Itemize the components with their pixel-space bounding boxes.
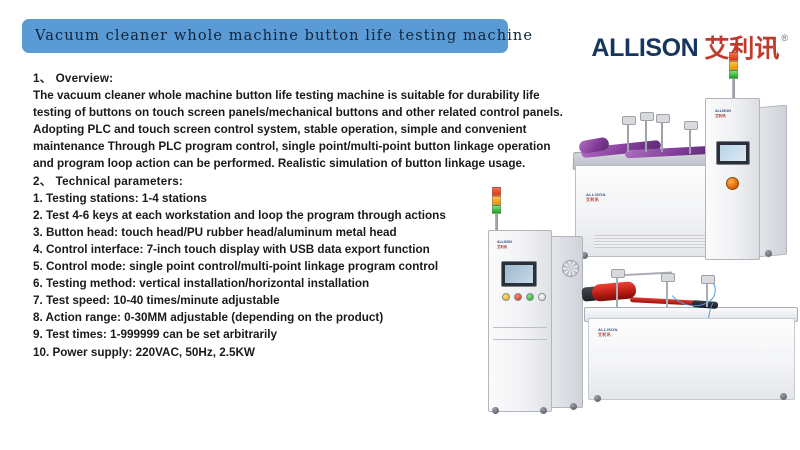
start-button[interactable] bbox=[526, 293, 534, 301]
control-button-row[interactable] bbox=[502, 293, 546, 301]
caster-wheel bbox=[570, 403, 577, 410]
parameters-heading-label: Technical parameters: bbox=[56, 175, 183, 188]
bench-brand-mark: ALLISON 艾利讯 bbox=[586, 192, 606, 203]
button-test-head bbox=[622, 116, 636, 125]
bench-brand-cn: 艾利讯 bbox=[598, 332, 618, 338]
button-test-head bbox=[640, 112, 654, 121]
panel-divider bbox=[493, 339, 547, 340]
button-test-head bbox=[656, 114, 670, 123]
touch-screen-display[interactable] bbox=[716, 141, 750, 165]
bench-brand-mark: ALLISON 艾利讯 bbox=[598, 327, 618, 338]
actuator-rod bbox=[616, 273, 618, 307]
ventilation-grille bbox=[594, 235, 714, 248]
fan-grille-icon bbox=[562, 260, 579, 277]
tower-light-red bbox=[729, 52, 738, 61]
actuator-rod bbox=[645, 118, 647, 152]
caster-wheel bbox=[765, 250, 772, 257]
tower-light-amber bbox=[492, 196, 501, 205]
page-title: Vacuum cleaner whole machine button life… bbox=[22, 28, 533, 44]
control-cabinet: ALLISON 艾利讯 bbox=[705, 98, 760, 260]
touch-screen-display[interactable] bbox=[501, 261, 537, 287]
cabinet-side-panel bbox=[757, 105, 787, 258]
cabinet-brand-cn: 艾利讯 bbox=[497, 245, 512, 250]
caster-wheel bbox=[492, 407, 499, 414]
button-test-head bbox=[701, 275, 715, 284]
control-cabinet: ALLISON 艾利讯 bbox=[488, 230, 552, 412]
actuator-rod bbox=[661, 120, 663, 152]
caster-wheel bbox=[540, 407, 547, 414]
caster-wheel bbox=[780, 393, 787, 400]
button-test-head bbox=[611, 269, 625, 278]
test-bench-cabinet: ALLISON 艾利讯 bbox=[588, 318, 795, 400]
tower-light-amber bbox=[729, 61, 738, 70]
actuator-rod bbox=[627, 122, 629, 152]
tower-light-green bbox=[492, 205, 501, 214]
caster-wheel bbox=[594, 395, 601, 402]
overview-heading-number: 1、 bbox=[33, 72, 52, 85]
emergency-stop-button[interactable] bbox=[514, 293, 522, 301]
overview-heading-label: Overview: bbox=[56, 72, 114, 85]
cabinet-brand-mark: ALLISON 艾利讯 bbox=[497, 240, 512, 250]
bench-brand-cn: 艾利讯 bbox=[586, 197, 606, 203]
cabinet-brand-mark: ALLISON 艾利讯 bbox=[715, 109, 731, 119]
tower-light-icon bbox=[729, 52, 738, 103]
parameters-heading-number: 2、 bbox=[33, 175, 52, 188]
product-photos: ALLISON 艾利讯 ALLISON 艾利讯 bbox=[470, 55, 800, 450]
machine-photo-top: ALLISON 艾利讯 ALLISON 艾利讯 bbox=[565, 60, 795, 265]
tower-light-red bbox=[492, 187, 501, 196]
cabinet-brand-cn: 艾利讯 bbox=[715, 114, 731, 119]
panel-divider bbox=[493, 327, 547, 328]
emergency-stop-button[interactable] bbox=[726, 177, 739, 190]
reset-button[interactable] bbox=[538, 293, 546, 301]
tower-light-green bbox=[729, 70, 738, 79]
button-test-head bbox=[684, 121, 698, 130]
registered-trademark-icon: ® bbox=[781, 33, 788, 43]
indicator-lamp-yellow[interactable] bbox=[502, 293, 510, 301]
button-test-head bbox=[661, 273, 675, 282]
actuator-rod bbox=[689, 126, 691, 154]
title-banner: Vacuum cleaner whole machine button life… bbox=[22, 19, 508, 53]
